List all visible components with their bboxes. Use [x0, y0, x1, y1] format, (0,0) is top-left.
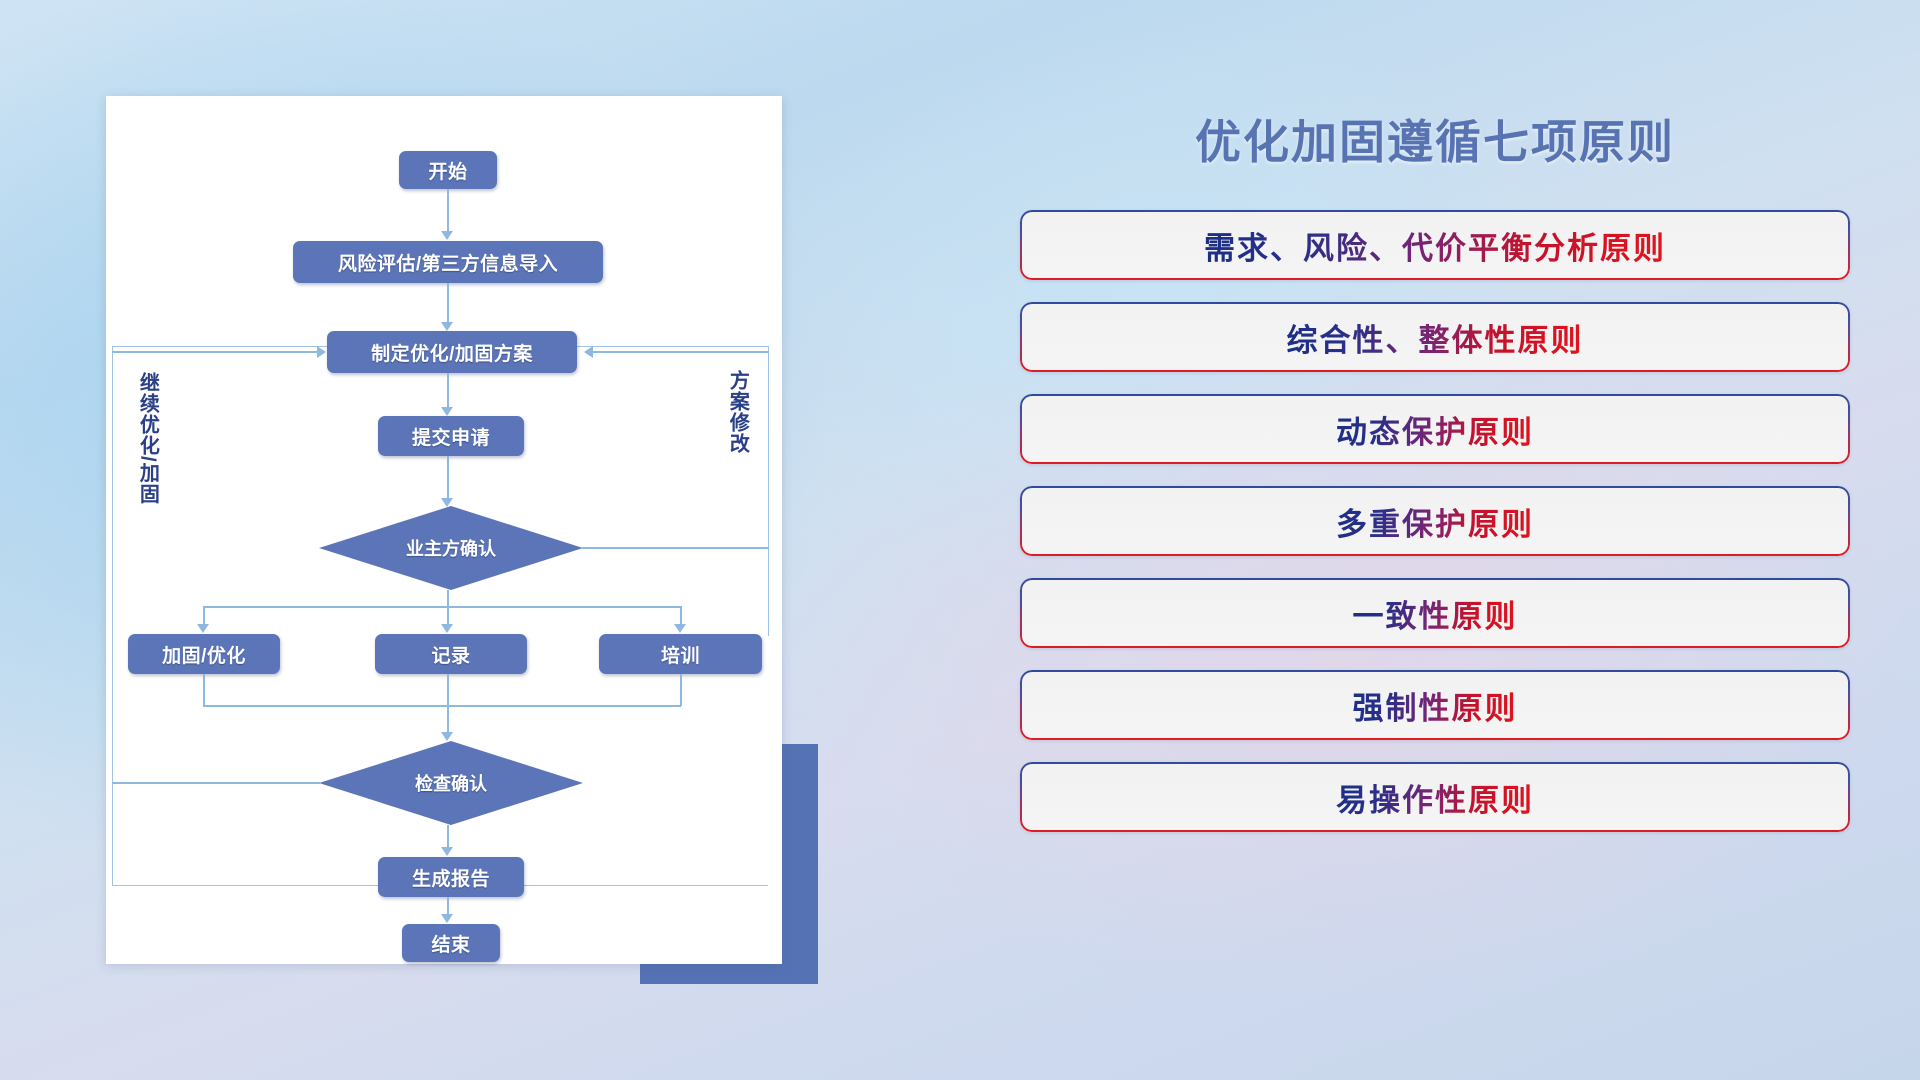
arrow-inspect-to-report	[441, 847, 453, 856]
connector-inspect-to-loop	[112, 782, 320, 784]
flow-node-record[interactable]: 记录	[375, 634, 527, 674]
flow-node-start[interactable]: 开始	[399, 151, 497, 189]
flow-node-risk-assessment[interactable]: 风险评估/第三方信息导入	[293, 241, 603, 283]
connector-risk-to-plan	[447, 283, 449, 323]
principle-label: 易操作性原则	[1336, 775, 1534, 820]
principles-list: 需求、风险、代价平衡分析原则 综合性、整体性原则 动态保护原则 多重保护原则 一…	[1020, 210, 1850, 832]
principles-panel: 优化加固遵循七项原则 需求、风险、代价平衡分析原则 综合性、整体性原则 动态保护…	[1020, 96, 1850, 996]
flow-node-owner-confirm[interactable]: 业主方确认	[319, 506, 583, 590]
arrow-start-to-risk	[441, 231, 453, 240]
principle-label: 强制性原则	[1353, 683, 1518, 728]
arrow-loop-left-into-plan	[317, 346, 326, 358]
flow-node-generate-report[interactable]: 生成报告	[378, 857, 524, 897]
arrow-plan-to-submit	[441, 407, 453, 416]
connector-merge-to-inspect	[447, 674, 449, 734]
connector-reinforce-down	[203, 674, 205, 706]
connector-submit-to-owner	[447, 456, 449, 499]
connector-split-right-drop	[680, 606, 682, 625]
connector-loop-left-into-plan	[112, 351, 318, 353]
flow-node-submit-application[interactable]: 提交申请	[378, 416, 524, 456]
arrow-to-reinforce	[197, 624, 209, 633]
connector-revision-into-plan	[593, 351, 769, 353]
connector-owner-to-revision	[582, 547, 769, 549]
connector-training-down	[680, 674, 682, 706]
principle-card-5[interactable]: 一致性原则	[1020, 578, 1850, 648]
principle-card-1[interactable]: 需求、风险、代价平衡分析原则	[1020, 210, 1850, 280]
connector-plan-to-submit	[447, 373, 449, 408]
flow-node-end[interactable]: 结束	[402, 924, 500, 962]
connector-inspect-to-report	[447, 825, 449, 849]
panel-title: 优化加固遵循七项原则	[1020, 106, 1850, 172]
side-label-continue-optimize: 继续优化/加固	[136, 372, 158, 505]
principle-card-4[interactable]: 多重保护原则	[1020, 486, 1850, 556]
flow-node-make-plan[interactable]: 制定优化/加固方案	[327, 331, 577, 373]
arrow-merge-to-inspect	[441, 732, 453, 741]
flowchart-card: 继续优化/加固 方案修改 开始 风险评估/第三方信息导入 制定优化/加固方案 提…	[106, 96, 782, 964]
arrow-to-record	[441, 624, 453, 633]
arrow-risk-to-plan	[441, 322, 453, 331]
connector-merge-bar	[203, 705, 681, 707]
principle-card-2[interactable]: 综合性、整体性原则	[1020, 302, 1850, 372]
loop-frame-right	[768, 346, 769, 636]
arrow-to-training	[674, 624, 686, 633]
principle-card-3[interactable]: 动态保护原则	[1020, 394, 1850, 464]
principle-label: 动态保护原则	[1336, 407, 1534, 452]
principle-label: 需求、风险、代价平衡分析原则	[1204, 223, 1666, 268]
principle-card-7[interactable]: 易操作性原则	[1020, 762, 1850, 832]
connector-report-to-end	[447, 897, 449, 915]
flow-node-training[interactable]: 培训	[599, 634, 762, 674]
flow-node-reinforce-optimize[interactable]: 加固/优化	[128, 634, 280, 674]
principle-label: 一致性原则	[1353, 591, 1518, 636]
principle-label: 综合性、整体性原则	[1287, 315, 1584, 360]
flow-node-inspection-confirm[interactable]: 检查确认	[319, 741, 583, 825]
connector-split-left-drop	[203, 606, 205, 625]
arrow-report-to-end	[441, 914, 453, 923]
flowchart-canvas: 继续优化/加固 方案修改 开始 风险评估/第三方信息导入 制定优化/加固方案 提…	[106, 96, 782, 964]
arrow-revision-into-plan	[584, 346, 593, 358]
connector-split-bar	[203, 606, 681, 608]
connector-start-to-risk	[447, 189, 449, 232]
arrow-submit-to-owner	[441, 498, 453, 507]
principle-card-6[interactable]: 强制性原则	[1020, 670, 1850, 740]
side-label-plan-revision: 方案修改	[726, 370, 748, 454]
principle-label: 多重保护原则	[1336, 499, 1534, 544]
